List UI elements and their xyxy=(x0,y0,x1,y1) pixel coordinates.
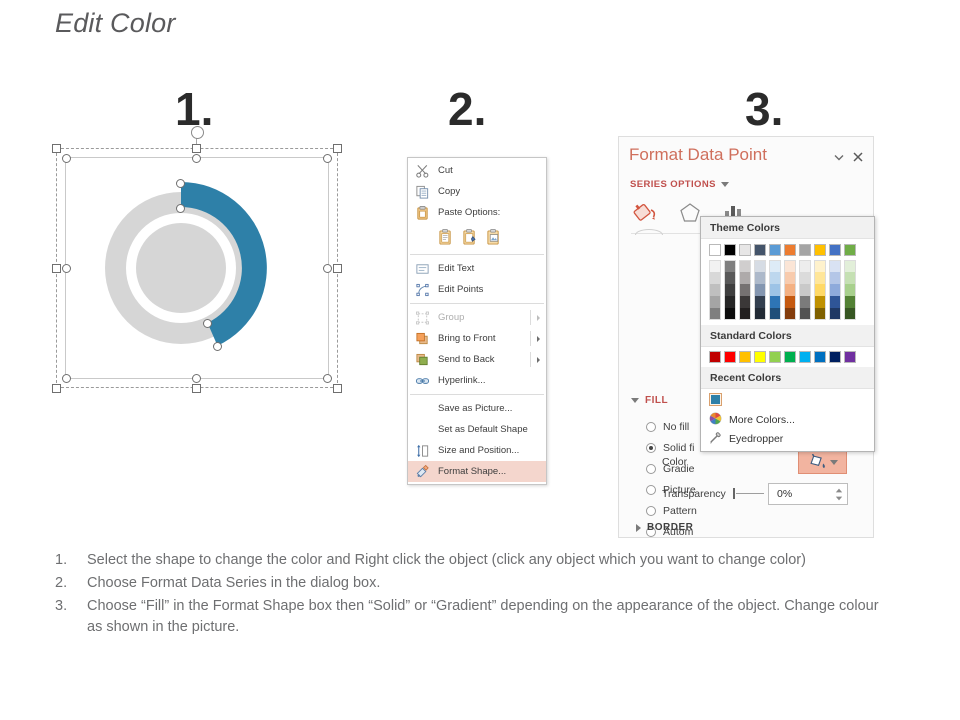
theme-color-column[interactable] xyxy=(814,244,826,320)
standard-color-swatch[interactable] xyxy=(709,351,721,363)
active-tab-indicator xyxy=(635,229,663,235)
menu-label: Size and Position... xyxy=(438,445,519,456)
theme-shade-swatch[interactable] xyxy=(724,296,736,308)
color-wheel-icon xyxy=(709,412,722,428)
spinner-down-icon[interactable] xyxy=(835,496,843,501)
more-colors-label: More Colors... xyxy=(729,414,795,426)
fill-section-label: FILL xyxy=(645,395,668,406)
inner-handle-ne[interactable] xyxy=(323,154,332,163)
resize-handle-nw[interactable] xyxy=(52,144,61,153)
theme-color-swatch[interactable] xyxy=(709,244,721,256)
theme-shade-swatch[interactable] xyxy=(724,260,736,272)
option-label: Pattern xyxy=(663,505,697,517)
theme-shade-swatch[interactable] xyxy=(739,272,751,284)
menu-label: Copy xyxy=(438,186,460,197)
radio-icon-selected xyxy=(646,443,656,453)
eyedropper-label: Eyedropper xyxy=(729,433,783,445)
theme-shade-swatch[interactable] xyxy=(754,284,766,296)
theme-color-swatch[interactable] xyxy=(769,244,781,256)
triangle-down-icon xyxy=(631,398,639,403)
standard-color-swatch[interactable] xyxy=(724,351,736,363)
color-picker-flyout[interactable]: Theme Colors Standard Colors Recent Colo… xyxy=(700,216,875,452)
recent-colors-header: Recent Colors xyxy=(701,367,874,389)
paste-picture-icon[interactable] xyxy=(486,228,501,246)
menu-label: Group xyxy=(438,312,464,323)
theme-color-swatch[interactable] xyxy=(814,244,826,256)
fill-color-button[interactable] xyxy=(798,451,847,474)
menu-item-edit-text[interactable]: Edit Text xyxy=(408,258,546,279)
menu-item-save-as-picture[interactable]: Save as Picture... xyxy=(408,398,546,419)
fill-line-tab[interactable] xyxy=(631,199,665,229)
menu-separator xyxy=(410,303,544,304)
menu-item-send-to-back[interactable]: Send to Back xyxy=(408,349,546,370)
scissors-icon xyxy=(415,163,430,178)
instructions-list: 1. Select the shape to change the color … xyxy=(55,550,895,640)
step-number-2: 2. xyxy=(448,86,486,132)
page-title: Edit Color xyxy=(55,8,176,39)
instruction-text: Choose “Fill” in the Format Shape box th… xyxy=(87,596,895,638)
eyedropper-icon xyxy=(709,431,722,447)
segment-handle-end-inner[interactable] xyxy=(203,319,212,328)
theme-shade-swatch[interactable] xyxy=(784,308,796,320)
radio-icon xyxy=(646,506,656,516)
shape-selection-area[interactable] xyxy=(56,148,338,388)
pane-title: Format Data Point xyxy=(629,145,767,165)
menu-separator xyxy=(410,394,544,395)
radio-icon xyxy=(646,464,656,474)
theme-shade-swatch[interactable] xyxy=(784,260,796,272)
theme-shade-swatch[interactable] xyxy=(814,296,826,308)
instruction-item: 1. Select the shape to change the color … xyxy=(55,550,895,571)
border-section-label: BORDER xyxy=(647,522,693,533)
theme-shade-swatch[interactable] xyxy=(754,260,766,272)
theme-shade-swatch[interactable] xyxy=(814,260,826,272)
theme-shade-swatch[interactable] xyxy=(724,284,736,296)
menu-item-set-default-shape[interactable]: Set as Default Shape xyxy=(408,419,546,440)
menu-item-edit-points[interactable]: Edit Points xyxy=(408,279,546,300)
theme-shade-swatch[interactable] xyxy=(844,308,856,320)
resize-handle-e[interactable] xyxy=(333,264,342,273)
theme-shade-swatch[interactable] xyxy=(709,284,721,296)
donut-chart[interactable] xyxy=(84,168,304,368)
submenu-divider xyxy=(530,331,531,346)
theme-color-column[interactable] xyxy=(724,244,736,320)
inner-handle-nw[interactable] xyxy=(62,154,71,163)
resize-handle-n[interactable] xyxy=(192,144,201,153)
theme-shade-swatch[interactable] xyxy=(814,272,826,284)
theme-shade-swatch[interactable] xyxy=(799,296,811,308)
instruction-number: 1. xyxy=(55,550,77,571)
theme-color-swatch[interactable] xyxy=(739,244,751,256)
paste-merge-icon[interactable] xyxy=(462,228,477,246)
submenu-divider xyxy=(530,310,531,325)
standard-color-swatch[interactable] xyxy=(754,351,766,363)
menu-label: Cut xyxy=(438,165,453,176)
paste-options-row[interactable] xyxy=(408,223,546,251)
segment-handle-start-outer[interactable] xyxy=(176,179,185,188)
theme-color-column[interactable] xyxy=(784,244,796,320)
menu-item-hyperlink[interactable]: Hyperlink... xyxy=(408,370,546,391)
instruction-number: 3. xyxy=(55,596,77,638)
transparency-slider-track[interactable] xyxy=(736,493,764,494)
paste-keep-formatting-icon[interactable] xyxy=(438,228,453,246)
size-position-icon xyxy=(415,443,430,458)
inner-handle-e[interactable] xyxy=(323,264,332,273)
standard-color-swatch[interactable] xyxy=(799,351,811,363)
recent-color-swatch[interactable] xyxy=(709,393,722,406)
theme-shade-swatch[interactable] xyxy=(799,284,811,296)
theme-shade-swatch[interactable] xyxy=(739,260,751,272)
inner-handle-n[interactable] xyxy=(192,154,201,163)
menu-item-bring-to-front[interactable]: Bring to Front xyxy=(408,328,546,349)
theme-color-column[interactable] xyxy=(829,244,841,320)
instruction-item: 3. Choose “Fill” in the Format Shape box… xyxy=(55,596,895,638)
radio-no-fill[interactable]: No fill xyxy=(646,421,689,433)
segment-handle-end-outer[interactable] xyxy=(213,342,222,351)
theme-shade-swatch[interactable] xyxy=(769,284,781,296)
standard-color-swatch[interactable] xyxy=(784,351,796,363)
menu-item-size-and-position[interactable]: Size and Position... xyxy=(408,440,546,461)
format-shape-icon xyxy=(415,464,430,479)
transparency-slider-knob[interactable] xyxy=(733,488,735,499)
transparency-input[interactable]: 0% xyxy=(768,483,848,505)
instruction-number: 2. xyxy=(55,573,77,594)
theme-shade-swatch[interactable] xyxy=(769,260,781,272)
close-icon[interactable] xyxy=(852,150,864,162)
theme-shade-swatch[interactable] xyxy=(829,296,841,308)
step-number-3: 3. xyxy=(745,86,783,132)
theme-color-column[interactable] xyxy=(844,244,856,320)
hyperlink-icon xyxy=(415,373,430,388)
menu-label: Edit Points xyxy=(438,284,483,295)
radio-pattern-fill[interactable]: Pattern xyxy=(646,505,697,517)
theme-colors-header: Theme Colors xyxy=(701,217,874,239)
theme-shade-swatch[interactable] xyxy=(709,308,721,320)
inner-handle-w[interactable] xyxy=(62,264,71,273)
instruction-item: 2. Choose Format Data Series in the dial… xyxy=(55,573,895,594)
clipboard-icon xyxy=(415,205,430,220)
menu-label: Hyperlink... xyxy=(438,375,486,386)
resize-handle-ne[interactable] xyxy=(333,144,342,153)
radio-solid-fill[interactable]: Solid fi xyxy=(646,442,695,454)
segment-handle-start-inner[interactable] xyxy=(176,204,185,213)
theme-shade-swatch[interactable] xyxy=(709,272,721,284)
theme-shade-swatch[interactable] xyxy=(829,284,841,296)
theme-color-column[interactable] xyxy=(799,244,811,320)
eyedropper-item[interactable]: Eyedropper xyxy=(701,429,874,448)
series-options-label: SERIES OPTIONS xyxy=(630,179,716,190)
theme-shade-swatch[interactable] xyxy=(784,296,796,308)
inner-handle-sw[interactable] xyxy=(62,374,71,383)
spinner-arrows[interactable] xyxy=(834,486,844,502)
transparency-value: 0% xyxy=(777,488,792,500)
recent-colors-grid[interactable] xyxy=(701,389,874,410)
theme-shade-swatch[interactable] xyxy=(814,284,826,296)
theme-shade-swatch[interactable] xyxy=(769,272,781,284)
option-label: Solid fi xyxy=(663,442,695,454)
menu-separator xyxy=(410,254,544,255)
inner-handle-s[interactable] xyxy=(192,374,201,383)
menu-item-format-shape[interactable]: Format Shape... xyxy=(408,461,546,482)
theme-shade-swatch[interactable] xyxy=(709,296,721,308)
theme-colors-grid[interactable] xyxy=(701,239,874,320)
fill-color-bucket-icon xyxy=(808,454,827,471)
theme-shade-swatch[interactable] xyxy=(799,272,811,284)
theme-shade-swatch[interactable] xyxy=(784,284,796,296)
theme-shade-swatch[interactable] xyxy=(754,296,766,308)
border-section-header[interactable]: BORDER xyxy=(636,522,693,533)
theme-color-column[interactable] xyxy=(769,244,781,320)
option-label: No fill xyxy=(663,421,689,433)
theme-shade-swatch[interactable] xyxy=(754,272,766,284)
instruction-text: Select the shape to change the color and… xyxy=(87,550,895,571)
more-colors-item[interactable]: More Colors... xyxy=(701,410,874,429)
theme-color-swatch[interactable] xyxy=(754,244,766,256)
menu-label: Save as Picture... xyxy=(438,403,512,414)
resize-handle-sw[interactable] xyxy=(52,384,61,393)
donut-chart-svg xyxy=(84,168,304,368)
copy-icon xyxy=(415,184,430,199)
resize-handle-s[interactable] xyxy=(192,384,201,393)
menu-label: Send to Back xyxy=(438,354,495,365)
menu-label: Edit Text xyxy=(438,263,474,274)
menu-label: Set as Default Shape xyxy=(438,424,528,435)
fill-section-header[interactable]: FILL xyxy=(631,395,668,406)
theme-shade-swatch[interactable] xyxy=(769,308,781,320)
theme-shade-swatch[interactable] xyxy=(739,308,751,320)
theme-color-swatch[interactable] xyxy=(829,244,841,256)
theme-shade-swatch[interactable] xyxy=(799,308,811,320)
standard-color-swatch[interactable] xyxy=(814,351,826,363)
theme-shade-swatch[interactable] xyxy=(844,260,856,272)
edit-text-icon xyxy=(415,261,430,276)
menu-item-paste-options[interactable]: Paste Options: xyxy=(408,202,546,223)
menu-item-copy[interactable]: Copy xyxy=(408,181,546,202)
menu-item-cut[interactable]: Cut xyxy=(408,160,546,181)
theme-shade-swatch[interactable] xyxy=(739,296,751,308)
chevron-right-icon xyxy=(537,315,540,321)
menu-item-group[interactable]: Group xyxy=(408,307,546,328)
inner-handle-se[interactable] xyxy=(323,374,332,383)
theme-shade-swatch[interactable] xyxy=(769,296,781,308)
step-number-1: 1. xyxy=(175,86,213,132)
menu-label: Paste Options: xyxy=(438,207,500,218)
menu-label: Bring to Front xyxy=(438,333,496,344)
chevron-down-icon xyxy=(830,460,838,465)
standard-color-swatch[interactable] xyxy=(769,351,781,363)
edit-points-icon xyxy=(415,282,430,297)
theme-shade-swatch[interactable] xyxy=(754,308,766,320)
spinner-up-icon[interactable] xyxy=(835,488,843,493)
theme-shade-swatch[interactable] xyxy=(799,260,811,272)
transparency-label: Transparency xyxy=(662,488,726,500)
resize-handle-w[interactable] xyxy=(52,264,61,273)
series-options-dropdown[interactable]: SERIES OPTIONS xyxy=(630,179,729,190)
theme-color-swatch[interactable] xyxy=(784,244,796,256)
radio-icon xyxy=(646,422,656,432)
theme-color-swatch[interactable] xyxy=(844,244,856,256)
bring-front-icon xyxy=(415,331,430,346)
theme-shade-swatch[interactable] xyxy=(829,308,841,320)
context-menu[interactable]: Cut Copy Paste xyxy=(407,157,547,485)
rotation-handle-icon[interactable] xyxy=(191,126,204,139)
donut-inner-disc xyxy=(136,223,226,313)
standard-color-swatch[interactable] xyxy=(829,351,841,363)
standard-color-swatch[interactable] xyxy=(739,351,751,363)
theme-shade-swatch[interactable] xyxy=(814,308,826,320)
theme-shade-swatch[interactable] xyxy=(784,272,796,284)
standard-colors-grid[interactable] xyxy=(701,347,874,367)
submenu-divider xyxy=(530,352,531,367)
theme-color-column[interactable] xyxy=(709,244,721,320)
theme-shade-swatch[interactable] xyxy=(709,260,721,272)
radio-icon xyxy=(646,485,656,495)
group-icon xyxy=(415,310,430,325)
resize-handle-se[interactable] xyxy=(333,384,342,393)
theme-shade-swatch[interactable] xyxy=(844,296,856,308)
slide-canvas: Edit Color 1. 2. 3. xyxy=(0,0,960,720)
recent-color-chip xyxy=(711,395,720,404)
color-row-label: Color xyxy=(662,456,687,468)
instruction-text: Choose Format Data Series in the dialog … xyxy=(87,573,895,594)
standard-colors-header: Standard Colors xyxy=(701,325,874,347)
triangle-right-icon xyxy=(636,524,641,532)
theme-shade-swatch[interactable] xyxy=(739,284,751,296)
chevron-right-icon xyxy=(537,357,540,363)
menu-label: Format Shape... xyxy=(438,466,506,477)
send-back-icon xyxy=(415,352,430,367)
theme-shade-swatch[interactable] xyxy=(724,272,736,284)
chevron-down-icon xyxy=(721,182,729,187)
standard-color-swatch[interactable] xyxy=(844,351,856,363)
theme-color-swatch[interactable] xyxy=(724,244,736,256)
theme-shade-swatch[interactable] xyxy=(844,272,856,284)
chevron-down-icon[interactable] xyxy=(833,150,845,162)
chevron-right-icon xyxy=(537,336,540,342)
theme-shade-swatch[interactable] xyxy=(844,284,856,296)
theme-color-column[interactable] xyxy=(739,244,751,320)
theme-shade-swatch[interactable] xyxy=(829,272,841,284)
theme-shade-swatch[interactable] xyxy=(829,260,841,272)
theme-color-column[interactable] xyxy=(754,244,766,320)
theme-shade-swatch[interactable] xyxy=(724,308,736,320)
theme-color-swatch[interactable] xyxy=(799,244,811,256)
